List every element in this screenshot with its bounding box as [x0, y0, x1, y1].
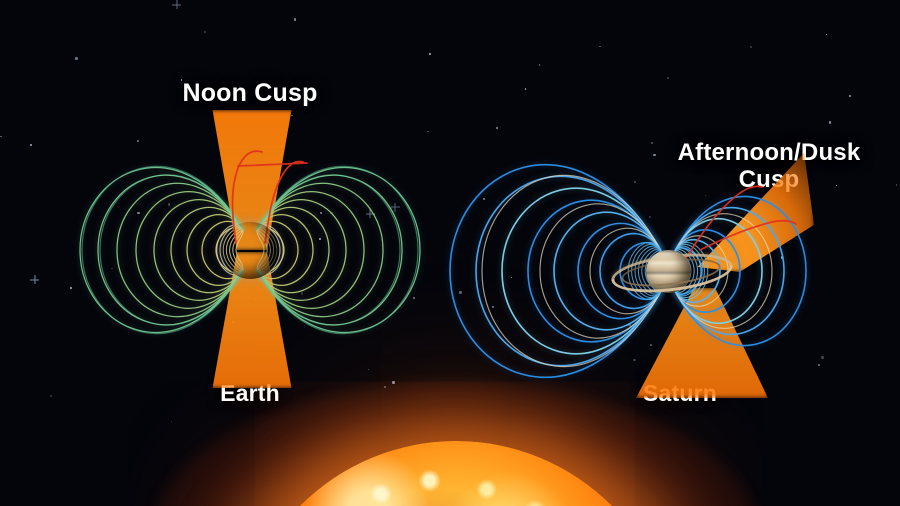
- star: [413, 297, 415, 299]
- star: [599, 46, 601, 48]
- star: [634, 181, 636, 183]
- star: [826, 34, 827, 35]
- star: [427, 131, 428, 132]
- star: [667, 77, 669, 79]
- star: [849, 95, 851, 97]
- star: [511, 277, 512, 278]
- star: [50, 395, 52, 397]
- star: [392, 381, 394, 383]
- star: [320, 212, 322, 214]
- star: [168, 203, 171, 206]
- star: [301, 292, 303, 294]
- starfield-background: [0, 0, 900, 506]
- earth-planet-body: [222, 222, 279, 279]
- star: [137, 140, 139, 142]
- label-saturn: Saturn: [580, 381, 780, 407]
- star: [496, 127, 498, 129]
- star: [319, 238, 321, 240]
- star-sparkle: [30, 275, 39, 284]
- star-sparkle: [366, 209, 375, 218]
- star: [650, 344, 652, 346]
- star-sparkle: [172, 0, 181, 9]
- star: [750, 46, 752, 48]
- star: [525, 88, 526, 89]
- label-noon-cusp: Noon Cusp: [0, 79, 500, 107]
- star: [628, 323, 631, 326]
- star: [255, 299, 256, 300]
- star: [705, 195, 706, 196]
- star: [384, 386, 386, 388]
- star: [291, 115, 293, 117]
- space-illustration-scene: Noon Cusp Afternoon/Dusk Cusp Earth Satu…: [0, 0, 900, 506]
- star: [111, 268, 113, 270]
- star: [70, 287, 72, 289]
- star: [0, 136, 2, 138]
- star: [781, 256, 783, 258]
- label-afternoon-dusk-cusp: Afternoon/Dusk Cusp: [640, 140, 898, 194]
- star: [574, 202, 575, 203]
- star: [721, 218, 722, 219]
- star: [829, 121, 831, 123]
- star: [429, 53, 431, 55]
- star: [232, 321, 234, 323]
- star: [368, 369, 369, 370]
- star: [75, 57, 78, 60]
- star: [633, 359, 635, 361]
- star: [483, 198, 485, 200]
- label-earth: Earth: [150, 381, 350, 407]
- star: [30, 144, 32, 146]
- star: [649, 216, 651, 218]
- star: [539, 64, 540, 65]
- star: [459, 291, 461, 293]
- star: [818, 364, 820, 366]
- star: [204, 31, 206, 33]
- star: [171, 421, 172, 422]
- star: [294, 18, 296, 20]
- star: [137, 212, 140, 215]
- star-sparkle: [391, 203, 400, 212]
- star: [821, 356, 823, 358]
- star: [492, 306, 494, 308]
- star: [330, 212, 332, 214]
